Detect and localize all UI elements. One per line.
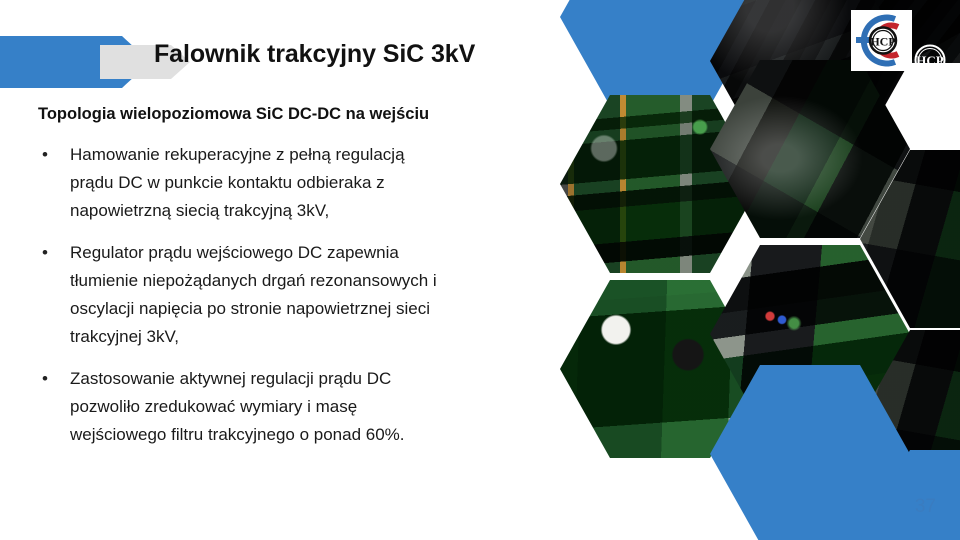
bullet-2-line-4: trakcyjnej 3kV, (70, 323, 568, 351)
bullet-marker-icon: • (38, 239, 70, 267)
bullet-3-text: Zastosowanie aktywnej regulacji prądu DC… (70, 365, 568, 449)
bullet-1-line-2: prądu DC w punkcie kontaktu odbieraka z (70, 169, 568, 197)
bullet-1-text: Hamowanie rekuperacyjne z pełną regulacj… (70, 141, 568, 225)
bullet-3-line-1: Zastosowanie aktywnej regulacji prądu DC (70, 365, 568, 393)
list-item: • Hamowanie rekuperacyjne z pełną regula… (38, 141, 568, 225)
hex-photo-rail-lower (860, 330, 960, 508)
bullet-1-line-3: napowietrzną siecią trakcyjną 3kV, (70, 197, 568, 225)
hex-blue-bottom-right (860, 450, 960, 540)
hex-photo-rail-upper (860, 150, 960, 328)
bullet-3-line-3: wejściowego filtru trakcyjnego o ponad 6… (70, 421, 568, 449)
ccc-institute-logo: HCP (851, 10, 912, 71)
list-item: • Zastosowanie aktywnej regulacji prądu … (38, 365, 568, 449)
svg-text:HCP: HCP (916, 53, 944, 68)
svg-text:HCP: HCP (870, 35, 895, 49)
hex-blue-bottom (710, 365, 910, 540)
bullet-1-line-1: Hamowanie rekuperacyjne z pełną regulacj… (70, 141, 568, 169)
hex-blue-top (560, 0, 760, 106)
bullet-marker-icon: • (38, 141, 70, 169)
list-item: • Regulator prądu wejściowego DC zapewni… (38, 239, 568, 351)
page-title: Falownik trakcyjny SiC 3kV (154, 40, 475, 69)
hex-photo-chassis (710, 60, 910, 238)
slide-subtitle: Topologia wielopoziomowa SiC DC-DC na we… (38, 104, 568, 125)
bullet-2-text: Regulator prądu wejściowego DC zapewnia … (70, 239, 568, 351)
bullet-2-line-3: oscylacji napięcia po stronie napowietrz… (70, 295, 568, 323)
bullet-3-line-2: pozwoliło zredukować wymiary i masę (70, 393, 568, 421)
hex-photo-connectors (710, 245, 910, 423)
hex-photo-boards (560, 95, 760, 273)
hex-photo-greenboard (560, 280, 760, 458)
bullet-2-line-1: Regulator prądu wejściowego DC zapewnia (70, 239, 568, 267)
slide-body: Topologia wielopoziomowa SiC DC-DC na we… (38, 104, 568, 463)
page-number: 37 (915, 496, 936, 518)
bullet-2-line-2: tłumienie niepożądanych drgań rezonansow… (70, 267, 568, 295)
hcp-roundel-logo: HCP (910, 40, 950, 80)
bullet-marker-icon: • (38, 365, 70, 393)
slide-canvas: HCP HCP Falownik trakcyjny SiC 3kV Topol… (0, 0, 960, 540)
